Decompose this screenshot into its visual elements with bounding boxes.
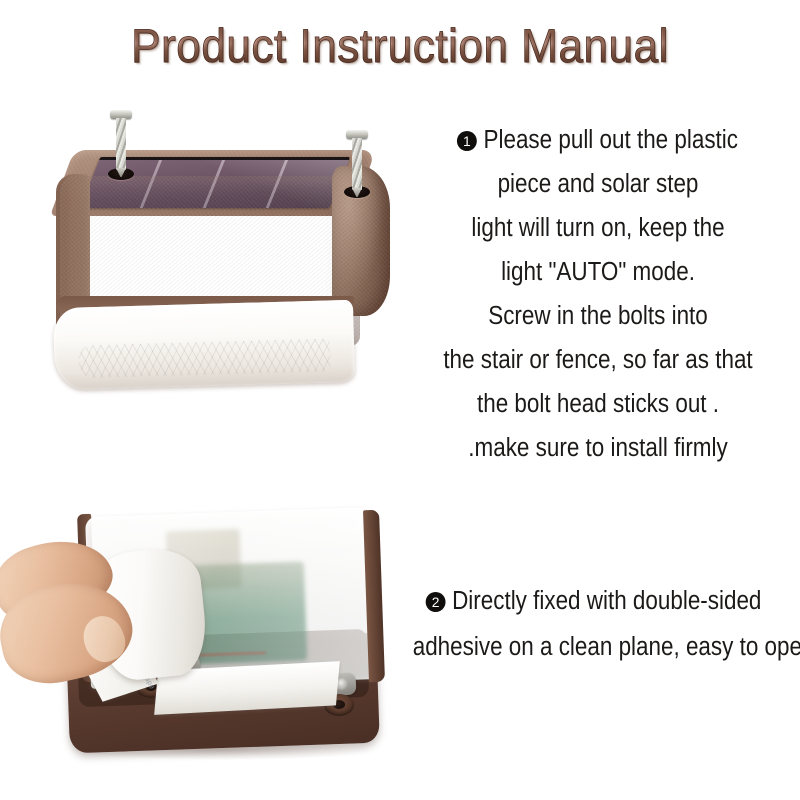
step-2-line-2: adhesive on a clean plane, easy to opera…: [413, 624, 776, 670]
step-1-line-4: light "AUTO" mode.: [422, 250, 774, 294]
step-1-line-7: the bolt head sticks out .: [422, 382, 774, 426]
step-1-line-1-text: Please pull out the plastic: [484, 126, 738, 154]
screw-left: [110, 110, 132, 176]
step-1-line-2: piece and solar step: [422, 162, 774, 206]
screw-shaft: [116, 118, 126, 170]
hand: [0, 542, 150, 702]
step-1-line-5: Screw in the bolts into: [422, 294, 774, 338]
step-2-marker: 2: [425, 592, 445, 612]
figure-adhesive-peel: No Conduct Tissue Tape: [28, 488, 408, 778]
light-diffuser: [53, 300, 355, 390]
figure-solar-step-light: [48, 108, 416, 408]
page-title-container: Product Instruction Manual: [0, 18, 800, 73]
instruction-manual-page: Product Instruction Manual 1Pl: [0, 0, 800, 800]
step-1-text-block: 1Please pull out the plastic piece and s…: [398, 118, 798, 470]
step-2-text-block: 2Directly fixed with double-sided adhesi…: [388, 578, 800, 670]
step-1-line-8: .make sure to install firmly: [422, 426, 774, 470]
screw-tip: [116, 168, 126, 177]
screw-shaft: [352, 138, 362, 190]
step-1-line-3: light will turn on, keep the: [422, 206, 774, 250]
screw-tip: [352, 188, 362, 197]
step-1-marker: 1: [457, 131, 477, 151]
page-title: Product Instruction Manual: [131, 18, 669, 73]
step-1-line-1: 1Please pull out the plastic: [422, 118, 774, 162]
step-1-line-6: the stair or fence, so far as that: [422, 338, 774, 382]
step-2-line-1-text: Directly fixed with double-sided: [452, 587, 761, 615]
screw-right: [346, 130, 368, 196]
step-2-line-1: 2Directly fixed with double-sided: [413, 578, 776, 624]
